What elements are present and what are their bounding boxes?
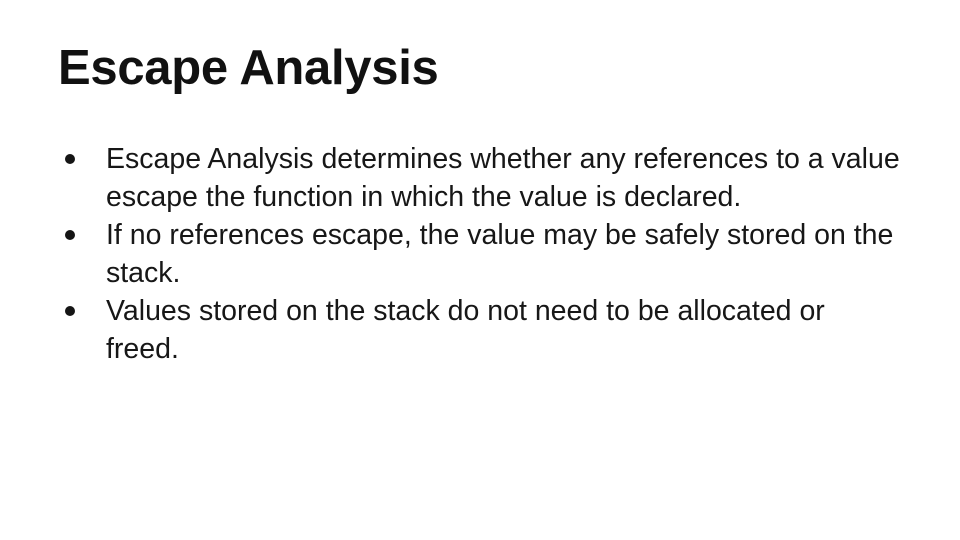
slide-body: Escape Analysis determines whether any r… (60, 140, 900, 368)
bullet-list: Escape Analysis determines whether any r… (60, 140, 900, 368)
slide-title: Escape Analysis (58, 42, 908, 95)
presentation-slide: Escape Analysis Escape Analysis determin… (0, 0, 960, 540)
bullet-list-item-text: If no references escape, the value may b… (106, 216, 900, 292)
bullet-list-item-text: Escape Analysis determines whether any r… (106, 140, 900, 216)
bullet-point-icon (65, 230, 75, 240)
bullet-list-item: If no references escape, the value may b… (60, 216, 900, 292)
bullet-point-icon (65, 154, 75, 164)
bullet-list-item: Escape Analysis determines whether any r… (60, 140, 900, 216)
bullet-point-icon (65, 306, 75, 316)
bullet-list-item-text: Values stored on the stack do not need t… (106, 292, 900, 368)
bullet-list-item: Values stored on the stack do not need t… (60, 292, 900, 368)
